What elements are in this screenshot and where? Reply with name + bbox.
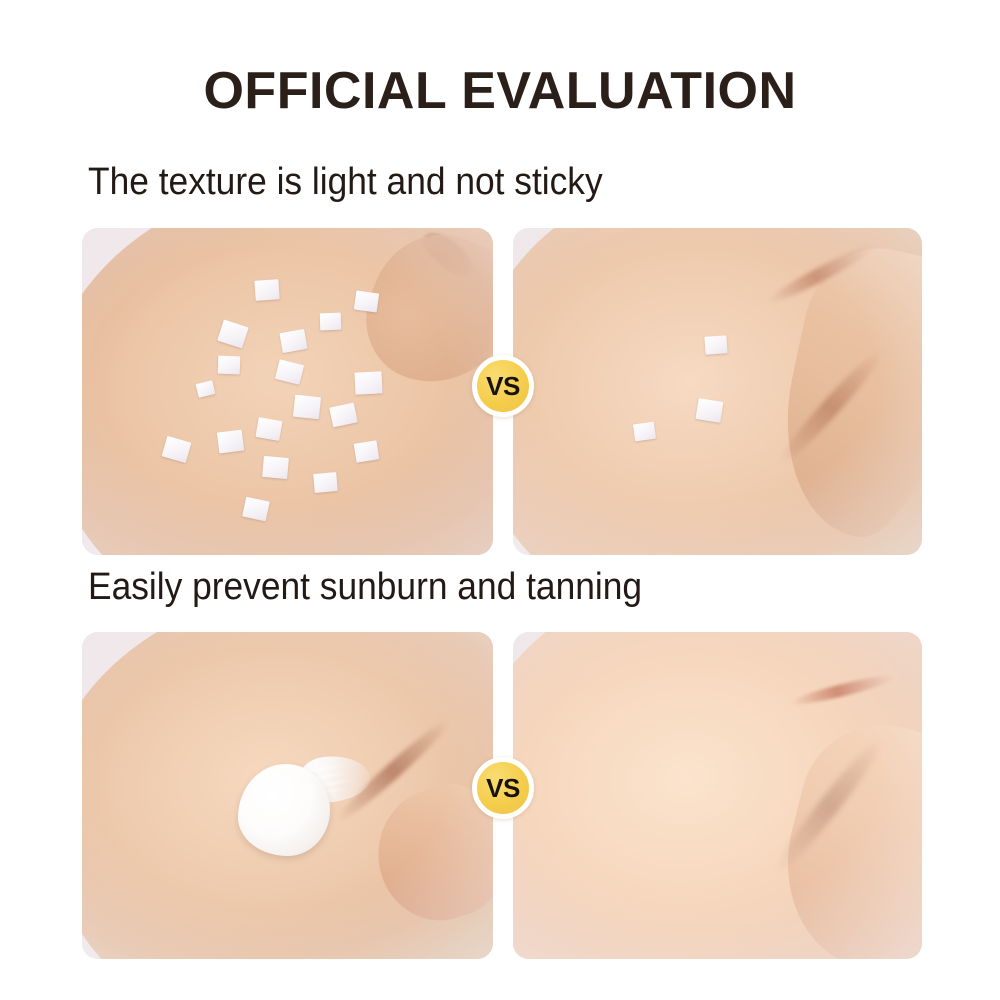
hand-image <box>82 228 493 555</box>
paper-square <box>355 371 383 395</box>
photo-panel-texture-before <box>82 228 493 555</box>
paper-square <box>705 335 728 355</box>
paper-square <box>217 355 240 374</box>
paper-square <box>354 440 380 462</box>
vs-badge-sunburn: VS <box>472 757 534 819</box>
hand-image <box>513 228 922 555</box>
finger-crease <box>417 228 479 282</box>
paper-square <box>633 421 656 441</box>
section-caption-sunburn: Easily prevent sunburn and tanning <box>88 565 642 609</box>
page-title: OFFICIAL EVALUATION <box>0 62 1000 120</box>
vs-badge-label: VS <box>486 373 520 399</box>
promo-page: OFFICIAL EVALUATION The texture is light… <box>0 0 1000 1000</box>
photo-panel-texture-after <box>513 228 922 555</box>
paper-square <box>354 290 379 312</box>
paper-square <box>696 398 724 422</box>
photo-panel-sunburn-before <box>82 632 493 959</box>
photo-panel-sunburn-after <box>513 632 922 959</box>
vs-badge-texture: VS <box>472 355 534 417</box>
paper-square <box>262 456 289 479</box>
paper-square <box>313 472 338 493</box>
paper-square <box>320 313 341 331</box>
finger-crease <box>790 671 898 709</box>
hand-image <box>513 632 922 959</box>
paper-square <box>254 280 279 301</box>
vs-badge-label: VS <box>486 775 520 801</box>
fingers-shape <box>764 707 922 959</box>
paper-square <box>293 395 321 419</box>
cream-blob <box>238 764 330 856</box>
sunscreen-cream-dollop <box>238 750 370 858</box>
paper-square <box>216 429 244 453</box>
section-caption-texture: The texture is light and not sticky <box>88 160 603 204</box>
